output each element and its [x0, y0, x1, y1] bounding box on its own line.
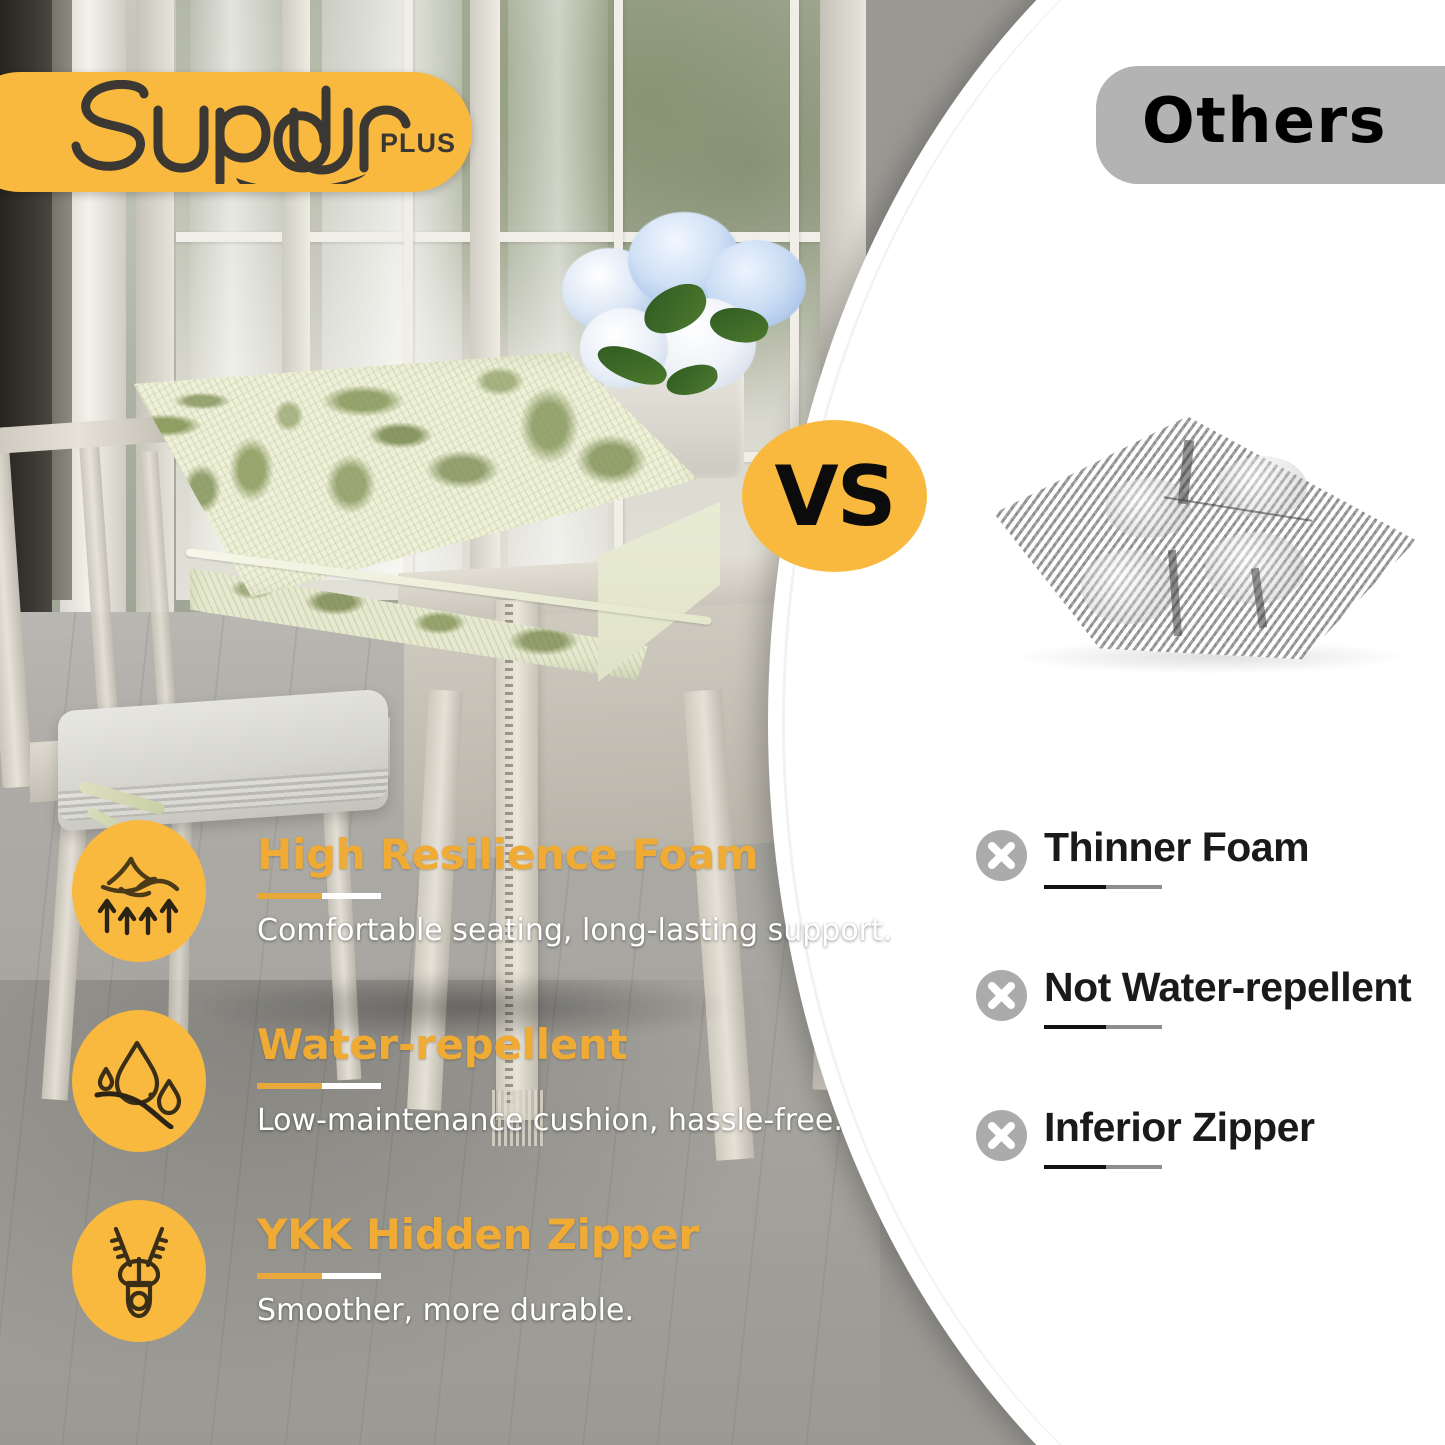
vs-label: VS — [774, 448, 894, 545]
con-divider — [1044, 885, 1162, 889]
featured-cushion — [78, 352, 708, 672]
feature-text-block: High Resilience Foam Comfortable seating… — [257, 830, 777, 948]
cushion-side-panel — [598, 502, 720, 682]
con-text-block: Not Water-repellent — [1044, 964, 1411, 1029]
other-cushion-image — [985, 400, 1425, 670]
brand-logo-suffix: PLUS — [380, 128, 456, 159]
con-label: Inferior Zipper — [1044, 1104, 1314, 1151]
x-circle-icon — [976, 1110, 1027, 1161]
vs-badge: VS — [742, 420, 927, 572]
feature-text-block: Water-repellent Low-maintenance cushion,… — [257, 1020, 777, 1138]
feature-item-water-repellent: Water-repellent Low-maintenance cushion,… — [72, 1002, 772, 1192]
feature-list: High Resilience Foam Comfortable seating… — [72, 812, 772, 1382]
cons-list: Thinner Foam Not Water-repellent — [976, 828, 1426, 1248]
con-label: Thinner Foam — [1044, 824, 1309, 871]
feature-divider — [257, 1083, 381, 1089]
brand-logo: PLUS — [58, 80, 458, 184]
con-item-thinner-foam: Thinner Foam — [976, 828, 1426, 968]
feature-divider — [257, 1273, 381, 1279]
feature-divider — [257, 893, 381, 899]
feature-description: Low-maintenance cushion, hassle-free. — [257, 1103, 777, 1138]
feature-text-block: YKK Hidden Zipper Smoother, more durable… — [257, 1210, 777, 1328]
water-droplet-repel-icon — [72, 1010, 206, 1152]
feature-title: YKK Hidden Zipper — [257, 1210, 777, 1259]
brand-swoosh-icon — [236, 174, 366, 184]
con-text-block: Inferior Zipper — [1044, 1104, 1314, 1169]
zipper-icon — [72, 1200, 206, 1342]
others-label: Others — [1142, 84, 1387, 157]
con-text-block: Thinner Foam — [1044, 824, 1309, 889]
con-divider — [1044, 1025, 1162, 1029]
con-item-not-water-repellent: Not Water-repellent — [976, 968, 1426, 1108]
feature-item-ykk-hidden-zipper: YKK Hidden Zipper Smoother, more durable… — [72, 1192, 772, 1382]
feature-title: High Resilience Foam — [257, 830, 777, 879]
con-divider — [1044, 1165, 1162, 1169]
cushion-tuft — [1081, 550, 1177, 624]
feature-description: Comfortable seating, long-lasting suppor… — [257, 913, 777, 948]
feature-item-high-resilience-foam: High Resilience Foam Comfortable seating… — [72, 812, 772, 1002]
cushion-tuft — [1105, 478, 1191, 538]
con-label: Not Water-repellent — [1044, 964, 1411, 1011]
feature-title: Water-repellent — [257, 1020, 777, 1069]
x-circle-icon — [976, 970, 1027, 1021]
comparison-infographic: PLUS Others VS — [0, 0, 1445, 1445]
hand-support-arrows-icon — [72, 820, 206, 962]
feature-description: Smoother, more durable. — [257, 1293, 777, 1328]
con-item-inferior-zipper: Inferior Zipper — [976, 1108, 1426, 1248]
x-circle-icon — [976, 830, 1027, 881]
other-cushion-body — [985, 400, 1425, 670]
